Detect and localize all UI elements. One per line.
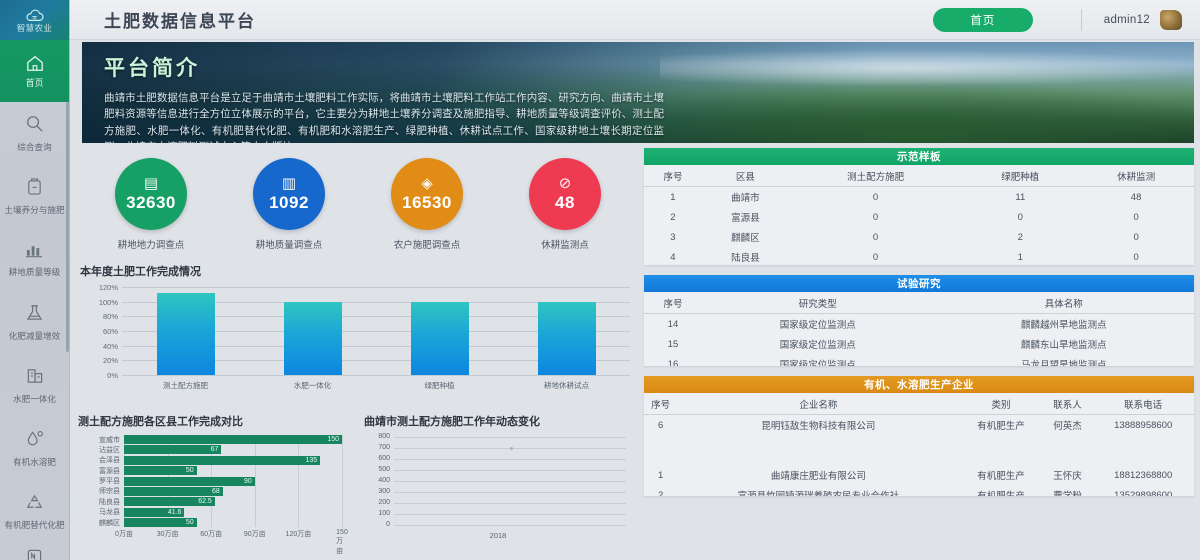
sidebar-item-home[interactable]: 首页: [0, 40, 69, 102]
y-axis-tick: 0: [362, 521, 390, 528]
gridline: [342, 435, 343, 527]
banner-title: 平台简介: [104, 52, 1176, 82]
kpi-label: 耕地地力调查点: [118, 237, 185, 251]
column-header[interactable]: 序号: [644, 393, 677, 415]
sidebar-item-fertilizer-reduction[interactable]: 化肥减量增效: [0, 291, 69, 354]
gridline: [394, 514, 626, 515]
intro-banner: 平台简介 曲靖市土肥数据信息平台是立足于曲靖市土壤肥料工作实际，将曲靖市土壤肥料…: [82, 42, 1194, 143]
avatar[interactable]: [1160, 10, 1182, 30]
table-cell: 13529898600: [1092, 485, 1194, 496]
y-axis-tick: 300: [362, 488, 390, 495]
y-axis-tick: 罗平县: [76, 476, 120, 486]
table-cell: 11: [962, 187, 1078, 208]
logo-text: 智慧农业: [17, 24, 53, 33]
recycle-icon: [25, 493, 44, 516]
kpi-value: 32630: [126, 193, 176, 213]
column-header[interactable]: 研究类型: [702, 292, 934, 314]
column-header[interactable]: 企业名称: [677, 393, 959, 415]
bar[interactable]: 41.6: [124, 508, 184, 517]
kpi-value: 48: [555, 193, 575, 213]
y-axis-tick: 100: [362, 510, 390, 517]
ban-icon: ⊘: [559, 176, 572, 191]
bar-slot: [284, 287, 342, 375]
left-column: ▤32630耕地地力调查点▥1092耕地质量调查点◈16530农户施肥调查点⊘4…: [76, 150, 636, 558]
sidebar-label: 化肥减量增效: [9, 332, 61, 342]
x-axis: 测土配方施肥水肥一体化绿肥种植耕地休耕试点: [122, 380, 630, 391]
table-row[interactable]: 1曲靖康庄肥业有限公司有机肥生产王怀庆18812368800: [644, 465, 1194, 485]
table-cell: 陆良县: [702, 247, 789, 265]
bar-group: 宣威市150沾益区67会泽县135富源县50罗平县90师宗县68陆良县62.5马…: [124, 435, 342, 527]
bar[interactable]: 67: [124, 445, 221, 454]
column-header[interactable]: 具体名称: [933, 292, 1194, 314]
x-axis-tick: 测土配方施肥: [157, 380, 215, 391]
page-title: 土肥数据信息平台: [104, 7, 256, 32]
kpi-card[interactable]: ▥1092耕地质量调查点: [230, 158, 348, 251]
y-axis-tick: 40%: [78, 342, 118, 351]
sidebar-label: 有机肥替代化肥: [4, 521, 64, 531]
fertilizer-icon: [26, 548, 43, 560]
y-axis-tick: 沾益区: [76, 445, 120, 455]
table-header-row: 序号企业名称类别联系人联系电话: [644, 393, 1194, 415]
table-cell: 有机肥生产: [960, 415, 1043, 436]
table-row[interactable]: 14国家级定位监测点麒麟越州旱地监测点: [644, 314, 1194, 335]
table-cell: 麒麟东山旱地监测点: [933, 334, 1194, 354]
table-cell: 1: [644, 187, 702, 208]
table-cell: 0: [1078, 207, 1194, 227]
plot-area: 0%20%40%60%80%100%120%: [122, 287, 630, 375]
building-icon: [26, 367, 44, 390]
bar[interactable]: [284, 302, 342, 375]
bar-value-label: 68: [212, 488, 223, 495]
table-header-row: 序号区县测土配方施肥绿肥种植休耕监测: [644, 165, 1194, 187]
right-column: 示范样板 序号区县测土配方施肥绿肥种植休耕监测1曲靖市011482富源县0003…: [644, 148, 1194, 506]
table-row[interactable]: 15国家级定位监测点麒麟东山旱地监测点: [644, 334, 1194, 354]
table-row[interactable]: 16国家级定位监测点马龙月望旱地监测点: [644, 354, 1194, 366]
plot-area: 宣威市150沾益区67会泽县135富源县50罗平县90师宗县68陆良县62.5马…: [124, 435, 342, 527]
table-cell: 有机肥生产: [960, 465, 1043, 485]
table-row[interactable]: 4陆良县010: [644, 247, 1194, 265]
table-cell: 马龙月望旱地监测点: [933, 354, 1194, 366]
plot-area: 0100200300400500600700800: [394, 437, 626, 525]
bar-value-label: 50: [186, 519, 197, 526]
table-cell: 0: [789, 207, 963, 227]
table-cell: 富源县竹园镇源瑞养殖农民专业合作社: [677, 485, 959, 496]
column-header[interactable]: 绿肥种植: [962, 165, 1078, 187]
column-header[interactable]: 测土配方施肥: [789, 165, 963, 187]
water-drop-icon: [25, 430, 44, 453]
bar-chart-county-comparison: 宣威市150沾益区67会泽县135富源县50罗平县90师宗县68陆良县62.5马…: [76, 433, 352, 541]
chart-title-completion: 本年度土肥工作完成情况: [80, 263, 636, 279]
sidebar-item-organic-soluble[interactable]: 有机水溶肥: [0, 417, 69, 480]
table-cell: 国家级定位监测点: [702, 354, 934, 366]
table-cell: 2: [644, 485, 677, 496]
y-axis-tick: 20%: [78, 356, 118, 365]
bar[interactable]: 90: [124, 477, 255, 486]
column-header[interactable]: 序号: [644, 292, 702, 314]
sidebar-item-water-fertilizer[interactable]: 水肥一体化: [0, 354, 69, 417]
table-spacer: [644, 435, 1194, 465]
bar[interactable]: [411, 302, 469, 375]
table-scroll-area[interactable]: 序号研究类型具体名称14国家级定位监测点麒麟越州旱地监测点15国家级定位监测点麒…: [644, 292, 1194, 366]
column-header[interactable]: 类别: [960, 393, 1043, 415]
table-cell: 王怀庆: [1043, 465, 1093, 485]
home-icon: [25, 54, 45, 72]
y-axis-tick: 会泽县: [76, 455, 120, 465]
y-axis-tick: 200: [362, 499, 390, 506]
sidebar: 智慧农业 首页 综合查询 土壤养分与施肥 耕地质量等级: [0, 0, 70, 560]
table-cell: 昆明钰敌生物科技有限公司: [677, 415, 959, 436]
header-bar: 土肥数据信息平台 首页 admin12: [70, 0, 1200, 40]
card-title: 示范样板: [644, 148, 1194, 165]
table-cell: 0: [789, 247, 963, 265]
kpi-circle: ◈16530: [391, 158, 463, 230]
y-axis-tick: 800: [362, 433, 390, 440]
bar-slot: 富源县50: [124, 466, 342, 475]
kpi-label: 耕地质量调查点: [256, 237, 323, 251]
y-axis-tick: 麒麟区: [76, 518, 120, 528]
column-header[interactable]: 区县: [702, 165, 789, 187]
bar[interactable]: 50: [124, 466, 197, 475]
kpi-label: 休耕监测点: [541, 237, 589, 251]
flask-icon: [25, 304, 44, 327]
x-axis-tick: 30万亩: [157, 529, 179, 539]
column-header[interactable]: 联系人: [1043, 393, 1093, 415]
table-cell: 富源县: [702, 207, 789, 227]
sidebar-label: 有机水溶肥: [13, 458, 56, 468]
table-cell: 何英杰: [1043, 415, 1093, 436]
sidebar-item-soil-nutrient[interactable]: 土壤养分与施肥: [0, 165, 69, 228]
y-axis-tick: 120%: [78, 283, 118, 292]
sidebar-label: 土壤养分与施肥: [4, 206, 64, 216]
card-title: 有机、水溶肥生产企业: [644, 376, 1194, 393]
table-cell: 麒麟越州旱地监测点: [933, 314, 1194, 335]
x-axis-tick: 耕地休耕试点: [538, 380, 596, 391]
table-cell: 15: [644, 334, 702, 354]
kpi-circle: ▥1092: [253, 158, 325, 230]
table-row[interactable]: 3麒麟区020: [644, 227, 1194, 247]
bar[interactable]: [538, 302, 596, 375]
table-cell: 麒麟区: [702, 227, 789, 247]
table-cell: 16: [644, 354, 702, 366]
bar[interactable]: 62.5: [124, 497, 215, 506]
x-axis-tick: 150万亩: [336, 529, 348, 556]
sidebar-label: 综合查询: [17, 143, 51, 153]
x-axis-tick: 绿肥种植: [411, 380, 469, 391]
kpi-card[interactable]: ◈16530农户施肥调查点: [368, 158, 486, 251]
gridline: [394, 470, 626, 471]
card-experiment-research: 试验研究 序号研究类型具体名称14国家级定位监测点麒麟越州旱地监测点15国家级定…: [644, 275, 1194, 366]
gridline: [394, 481, 626, 482]
chart-title-yearly: 曲靖市测土配方施肥工作年动态变化: [364, 413, 636, 429]
gridline: [122, 375, 630, 376]
table-cell: 14: [644, 314, 702, 335]
bar-value-label: 90: [244, 478, 255, 485]
table-row[interactable]: 1曲靖市01148: [644, 187, 1194, 208]
bar-slot: 马龙县41.6: [124, 508, 342, 517]
bar-slot: 陆良县62.5: [124, 497, 342, 506]
table-cell: 18812368800: [1092, 465, 1194, 485]
x-axis-tick: 120万亩: [286, 529, 312, 539]
bar-value-label: 62.5: [198, 498, 215, 505]
y-axis-tick: 100%: [78, 298, 118, 307]
table-demo-sample: 序号区县测土配方施肥绿肥种植休耕监测1曲靖市011482富源县0003麒麟区02…: [644, 165, 1194, 265]
y-axis-tick: 马龙县: [76, 507, 120, 517]
table-header-row: 序号研究类型具体名称: [644, 292, 1194, 314]
table-cell: 48: [1078, 187, 1194, 208]
x-axis-tick: 0万亩: [115, 529, 133, 539]
kpi-label: 农户施肥调查点: [394, 237, 461, 251]
sidebar-item-organic-replace[interactable]: 有机肥替代化肥: [0, 480, 69, 543]
bar[interactable]: [157, 293, 215, 375]
bar-slot: 麒麟区50: [124, 518, 342, 527]
sidebar-item-search[interactable]: 综合查询: [0, 102, 69, 165]
table-experiment-research: 序号研究类型具体名称14国家级定位监测点麒麟越州旱地监测点15国家级定位监测点麒…: [644, 292, 1194, 366]
table-scroll-area[interactable]: 序号区县测土配方施肥绿肥种植休耕监测1曲靖市011482富源县0003麒麟区02…: [644, 165, 1194, 265]
banner-body: 曲靖市土肥数据信息平台是立足于曲靖市土壤肥料工作实际，将曲靖市土壤肥料工作站工作…: [104, 90, 664, 143]
y-axis-tick: 陆良县: [76, 497, 120, 507]
table-row[interactable]: 2富源县000: [644, 207, 1194, 227]
table-cell: 0: [962, 207, 1078, 227]
app-logo: 智慧农业: [0, 0, 69, 40]
dashboard-page: 智慧农业 首页 综合查询 土壤养分与施肥 耕地质量等级: [0, 0, 1200, 560]
bar-value-label: 150: [327, 436, 342, 443]
card-producers: 有机、水溶肥生产企业 序号企业名称类别联系人联系电话6昆明钰敌生物科技有限公司有…: [644, 376, 1194, 496]
home-button[interactable]: 首页: [933, 8, 1033, 32]
kpi-circle: ⊘48: [529, 158, 601, 230]
gridline: [394, 525, 626, 526]
x-axis-tick: 90万亩: [244, 529, 266, 539]
table-cell: 0: [789, 187, 963, 208]
table-producers: 序号企业名称类别联系人联系电话6昆明钰敌生物科技有限公司有机肥生产何英杰1388…: [644, 393, 1194, 496]
bar-slot: 师宗县68: [124, 487, 342, 496]
bar-slot: [157, 287, 215, 375]
bar[interactable]: 68: [124, 487, 223, 496]
table-cell: 曲靖市: [702, 187, 789, 208]
y-axis-tick: 60%: [78, 327, 118, 336]
kpi-card[interactable]: ▤32630耕地地力调查点: [92, 158, 210, 251]
bar-slot: [411, 287, 469, 375]
kpi-row: ▤32630耕地地力调查点▥1092耕地质量调查点◈16530农户施肥调查点⊘4…: [76, 150, 636, 251]
bar-value-label: 135: [306, 457, 321, 464]
table-cell: 2: [644, 207, 702, 227]
header-right-group: 首页 admin12: [933, 8, 1200, 32]
chart-icon: ▥: [282, 176, 296, 191]
kpi-card[interactable]: ⊘48休耕监测点: [506, 158, 624, 251]
table-cell: 曲靖康庄肥业有限公司: [677, 465, 959, 485]
x-axis-tick: 水肥一体化: [284, 380, 342, 391]
chart-title-county: 测土配方施肥各区县工作完成对比: [78, 413, 352, 429]
y-axis-tick: 600: [362, 455, 390, 462]
y-axis-tick: 富源县: [76, 466, 120, 476]
kpi-value: 1092: [269, 193, 309, 213]
soil-bottle-icon: [26, 177, 43, 201]
x-axis-tick: 60万亩: [200, 529, 222, 539]
gridline: [394, 459, 626, 460]
doc-icon: ◈: [421, 176, 433, 191]
bar-slot: 罗平县90: [124, 477, 342, 486]
kpi-circle: ▤32630: [115, 158, 187, 230]
card-title: 试验研究: [644, 275, 1194, 292]
column-header[interactable]: 休耕监测: [1078, 165, 1194, 187]
sidebar-item-farmland-quality[interactable]: 耕地质量等级: [0, 228, 69, 291]
bar[interactable]: 50: [124, 518, 197, 527]
bar-value-label: 67: [211, 446, 222, 453]
line-chart-yearly-change: 01002003004005006007008002018: [360, 433, 636, 541]
data-point[interactable]: [510, 447, 513, 450]
kpi-value: 16530: [402, 193, 452, 213]
column-header[interactable]: 序号: [644, 165, 702, 187]
x-axis: 0万亩30万亩60万亩90万亩120万亩150万亩: [124, 529, 342, 541]
table-cell: 曹学粉: [1043, 485, 1093, 496]
table-row[interactable]: 2富源县竹园镇源瑞养殖农民专业合作社有机肥生产曹学粉13529898600: [644, 485, 1194, 496]
bar-slot: 沾益区67: [124, 445, 342, 454]
user-name: admin12: [1104, 14, 1150, 26]
header-divider: [1081, 9, 1082, 31]
sidebar-home-label: 首页: [25, 76, 43, 89]
bar-value-label: 41.6: [168, 509, 185, 516]
table-cell: 13888958600: [1092, 415, 1194, 436]
table-cell: 2: [962, 227, 1078, 247]
bar-group: [122, 287, 630, 375]
bar-chart-completion: 0%20%40%60%80%100%120%测土配方施肥水肥一体化绿肥种植耕地休…: [78, 283, 636, 391]
sidebar-label: 水肥一体化: [13, 395, 56, 405]
grid-icon: ▤: [144, 176, 158, 191]
gridline: [394, 503, 626, 504]
column-header[interactable]: 联系电话: [1092, 393, 1194, 415]
bar[interactable]: 150: [124, 435, 342, 444]
table-cell: 国家级定位监测点: [702, 334, 934, 354]
table-cell: 0: [1078, 247, 1194, 265]
bar-slot: 宣威市150: [124, 435, 342, 444]
y-axis-tick: 0%: [78, 371, 118, 380]
table-cell: 1: [644, 465, 677, 485]
gridline: [394, 437, 626, 438]
table-cell: 0: [1078, 227, 1194, 247]
bar-chart-icon: [25, 242, 44, 263]
y-axis-tick: 500: [362, 466, 390, 473]
table-cell: 有机肥生产: [960, 485, 1043, 496]
table-cell: 6: [644, 415, 677, 436]
table-cell: 3: [644, 227, 702, 247]
x-axis-tick: 2018: [490, 531, 507, 540]
y-axis-tick: 400: [362, 477, 390, 484]
table-cell: 4: [644, 247, 702, 265]
table-scroll-area[interactable]: 序号企业名称类别联系人联系电话6昆明钰敌生物科技有限公司有机肥生产何英杰1388…: [644, 393, 1194, 496]
card-demo-sample: 示范样板 序号区县测土配方施肥绿肥种植休耕监测1曲靖市011482富源县0003…: [644, 148, 1194, 265]
sidebar-scrollbar[interactable]: [66, 102, 69, 352]
cloud-icon: [24, 9, 46, 23]
gridline: [394, 492, 626, 493]
bar-value-label: 50: [186, 467, 197, 474]
table-row[interactable]: 6昆明钰敌生物科技有限公司有机肥生产何英杰13888958600: [644, 415, 1194, 436]
table-cell: 1: [962, 247, 1078, 265]
bar[interactable]: 135: [124, 456, 320, 465]
table-cell: 国家级定位监测点: [702, 314, 934, 335]
y-axis-tick: 80%: [78, 312, 118, 321]
bar-slot: 会泽县135: [124, 456, 342, 465]
sidebar-item-extra[interactable]: [0, 543, 69, 560]
y-axis-tick: 师宗县: [76, 486, 120, 496]
y-axis-tick: 700: [362, 444, 390, 451]
table-cell: 0: [789, 227, 963, 247]
y-axis-tick: 宣威市: [76, 435, 120, 445]
search-icon: [25, 114, 44, 138]
sidebar-label: 耕地质量等级: [9, 268, 61, 278]
bar-slot: [538, 287, 596, 375]
